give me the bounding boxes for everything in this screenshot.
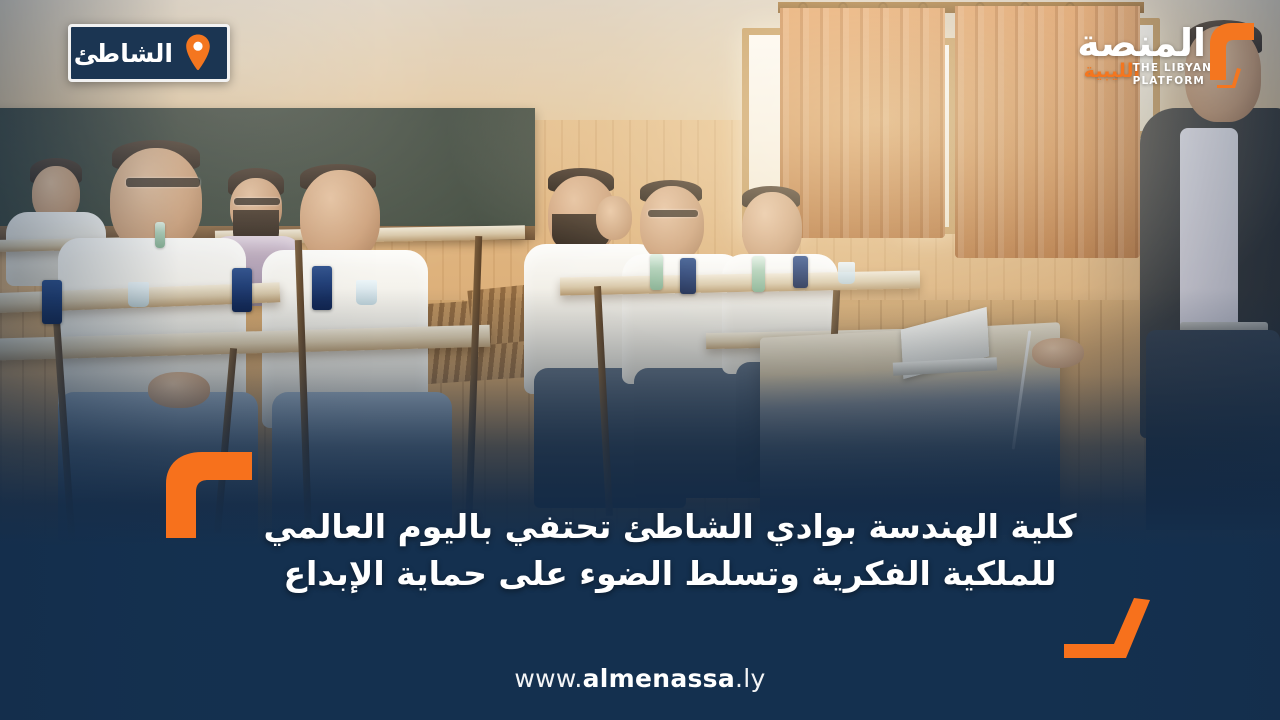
website-tld: .ly [735,664,766,693]
news-card: الشاطئ المنصة الليبية THE LIBYAN PLATFOR… [0,0,1280,720]
location-badge[interactable]: الشاطئ [68,24,230,82]
location-label: الشاطئ [74,41,173,66]
brand-logo[interactable]: المنصة الليبية THE LIBYAN PLATFORM [1026,18,1262,102]
orange-angle-mark-icon [1064,596,1150,658]
brand-name-latin: THE LIBYAN PLATFORM [1133,62,1212,88]
website-prefix: www. [514,664,582,693]
map-pin-icon [183,33,213,73]
brand-latin-line2: PLATFORM [1133,75,1205,87]
brand-latin-line1: THE LIBYAN [1133,62,1212,74]
brand-tick-mark-icon [1216,66,1242,88]
orange-bracket-mark-icon [160,448,256,540]
brand-subtitle-arabic: الليبية [1084,62,1140,81]
brand-name-arabic: المنصة [1077,24,1206,62]
website-url[interactable]: www.almenassa.ly [0,664,1280,693]
website-name: almenassa [583,664,735,693]
headline-text: كلية الهندسة بوادي الشاطئ تحتفي باليوم ا… [246,504,1094,598]
